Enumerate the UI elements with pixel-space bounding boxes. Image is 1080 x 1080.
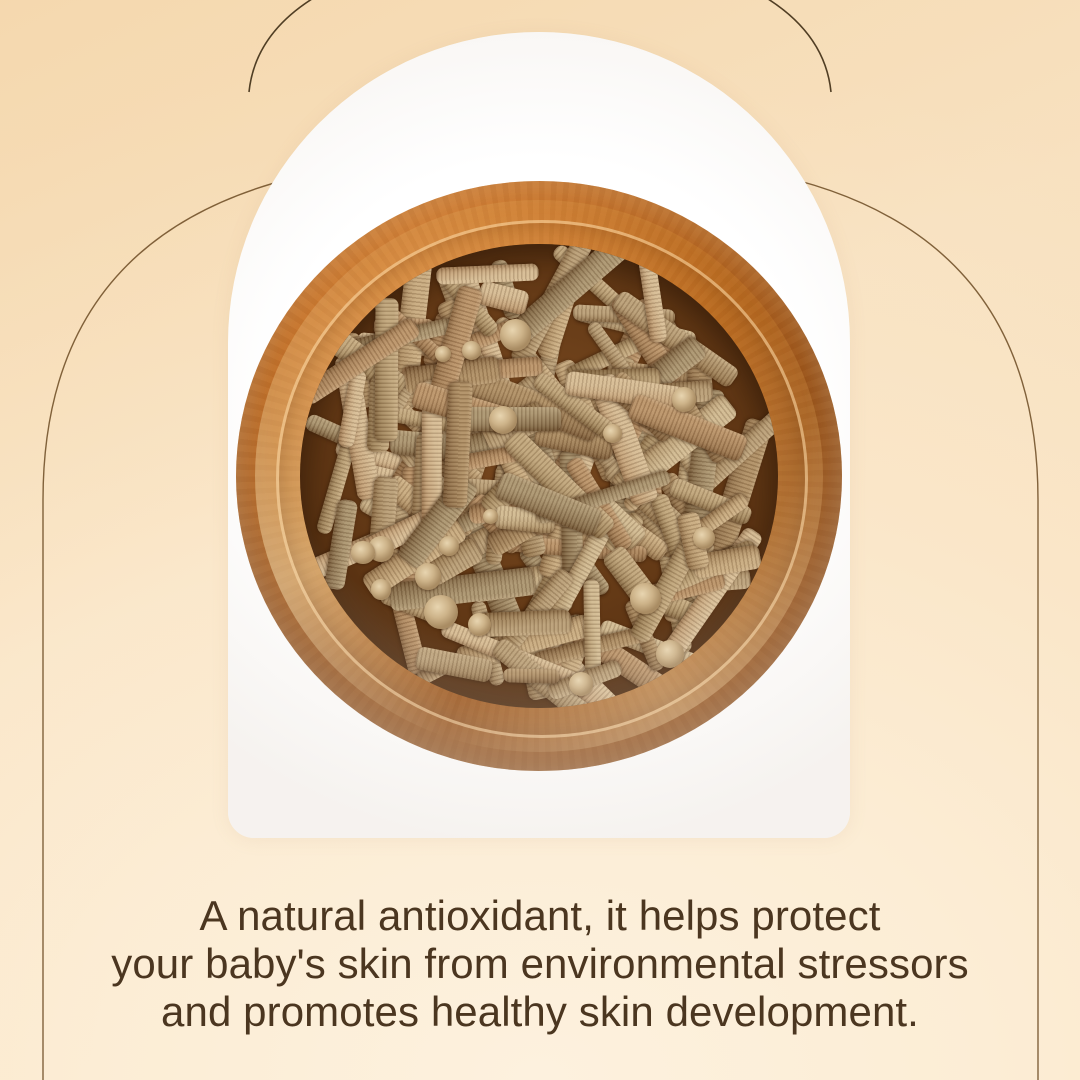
caption-line-3: and promotes healthy skin development. (0, 988, 1080, 1036)
caption-block: A natural antioxidant, it helps protect … (0, 892, 1080, 1036)
poster-canvas: A natural antioxidant, it helps protect … (0, 0, 1080, 1080)
caption-line-2: your baby's skin from environmental stre… (0, 940, 1080, 988)
caption-line-1: A natural antioxidant, it helps protect (0, 892, 1080, 940)
image-card (228, 32, 850, 838)
card-vignette (228, 32, 850, 838)
